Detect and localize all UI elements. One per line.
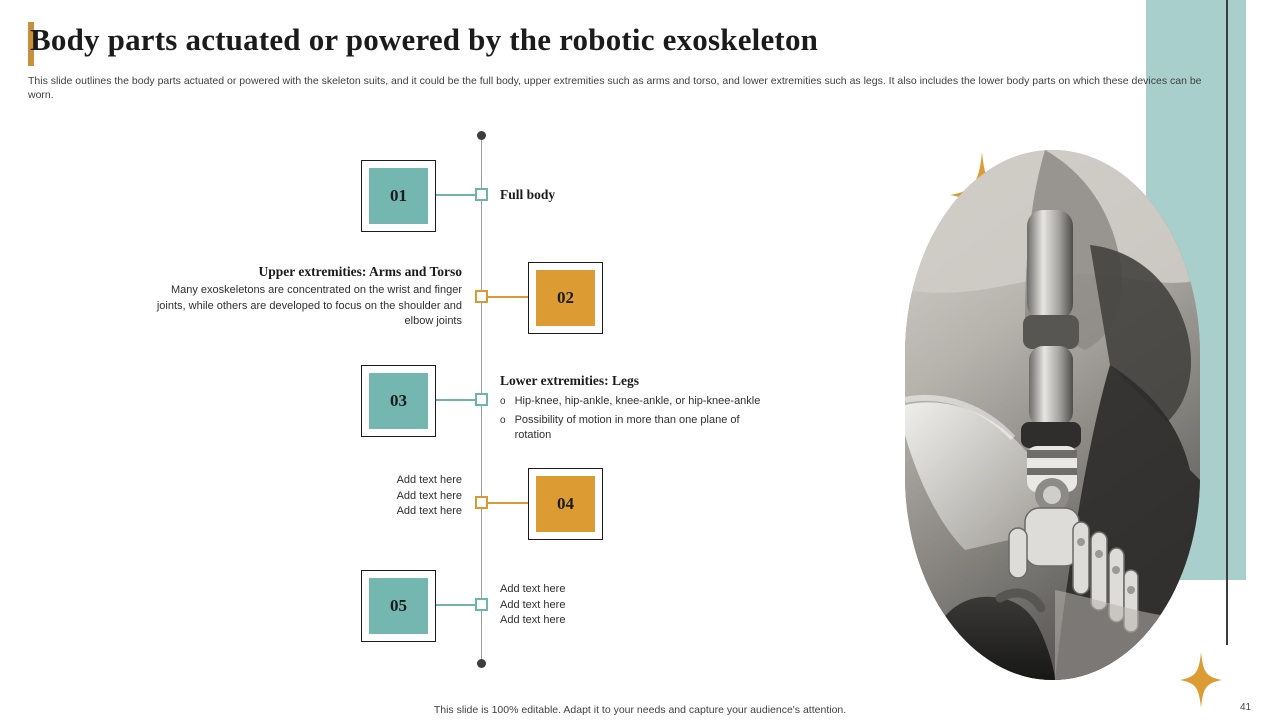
decorative-vertical-line xyxy=(1226,0,1228,645)
connector-03 xyxy=(436,399,475,401)
timeline-number-01: 01 xyxy=(369,168,428,224)
bullet-marker-icon: o xyxy=(500,413,506,429)
timeline-bullet-text-03-2: Possibility of motion in more than one p… xyxy=(515,413,762,444)
connector-02 xyxy=(488,296,528,298)
timeline-number-box-03[interactable]: 03 xyxy=(361,365,436,437)
timeline-number-05: 05 xyxy=(369,578,428,634)
timeline-body-02: Many exoskeletons are concentrated on th… xyxy=(150,283,462,330)
connector-01 xyxy=(436,194,475,196)
timeline-number-box-02[interactable]: 02 xyxy=(528,262,603,334)
exoskeleton-photo xyxy=(905,150,1200,680)
timeline-line-04-2: Add text here xyxy=(250,489,462,505)
timeline-line-05-1: Add text here xyxy=(500,582,712,598)
timeline-heading-02: Upper extremities: Arms and Torso xyxy=(150,264,462,280)
spine-square-02 xyxy=(475,290,488,303)
timeline-bullet-text-03-1: Hip-knee, hip-ankle, knee-ankle, or hip-… xyxy=(515,394,761,410)
timeline-number-03: 03 xyxy=(369,373,428,429)
page-number: 41 xyxy=(1240,702,1251,713)
connector-05 xyxy=(436,604,475,606)
page-title: Body parts actuated or powered by the ro… xyxy=(30,22,1130,58)
bullet-marker-icon: o xyxy=(500,394,506,410)
timeline-line-04-3: Add text here xyxy=(250,504,462,520)
timeline-line-05-3: Add text here xyxy=(500,613,712,629)
timeline-text-01: Full body xyxy=(500,187,750,203)
timeline-line-04-1: Add text here xyxy=(250,473,462,489)
timeline-text-04: Add text here Add text here Add text her… xyxy=(250,473,462,520)
spine-square-04 xyxy=(475,496,488,509)
spine-square-01 xyxy=(475,188,488,201)
timeline-line-05-2: Add text here xyxy=(500,598,712,614)
timeline-text-03: Lower extremities: Legs o Hip-knee, hip-… xyxy=(500,373,762,444)
timeline-dot-bottom xyxy=(477,659,486,668)
timeline-number-box-04[interactable]: 04 xyxy=(528,468,603,540)
page-subtitle: This slide outlines the body parts actua… xyxy=(28,74,1226,102)
connector-04 xyxy=(488,502,528,504)
timeline-text-02: Upper extremities: Arms and Torso Many e… xyxy=(150,264,462,330)
timeline-heading-03: Lower extremities: Legs xyxy=(500,373,762,389)
timeline-number-box-05[interactable]: 05 xyxy=(361,570,436,642)
timeline-number-box-01[interactable]: 01 xyxy=(361,160,436,232)
timeline-bullet-03-2: o Possibility of motion in more than one… xyxy=(500,413,762,444)
timeline-text-05: Add text here Add text here Add text her… xyxy=(500,582,712,629)
timeline-dot-top xyxy=(477,131,486,140)
spine-square-03 xyxy=(475,393,488,406)
timeline-number-02: 02 xyxy=(536,270,595,326)
timeline-heading-01: Full body xyxy=(500,187,750,203)
timeline-number-04: 04 xyxy=(536,476,595,532)
spine-square-05 xyxy=(475,598,488,611)
timeline-bullet-03-1: o Hip-knee, hip-ankle, knee-ankle, or hi… xyxy=(500,394,762,410)
footer-note: This slide is 100% editable. Adapt it to… xyxy=(0,704,1280,716)
